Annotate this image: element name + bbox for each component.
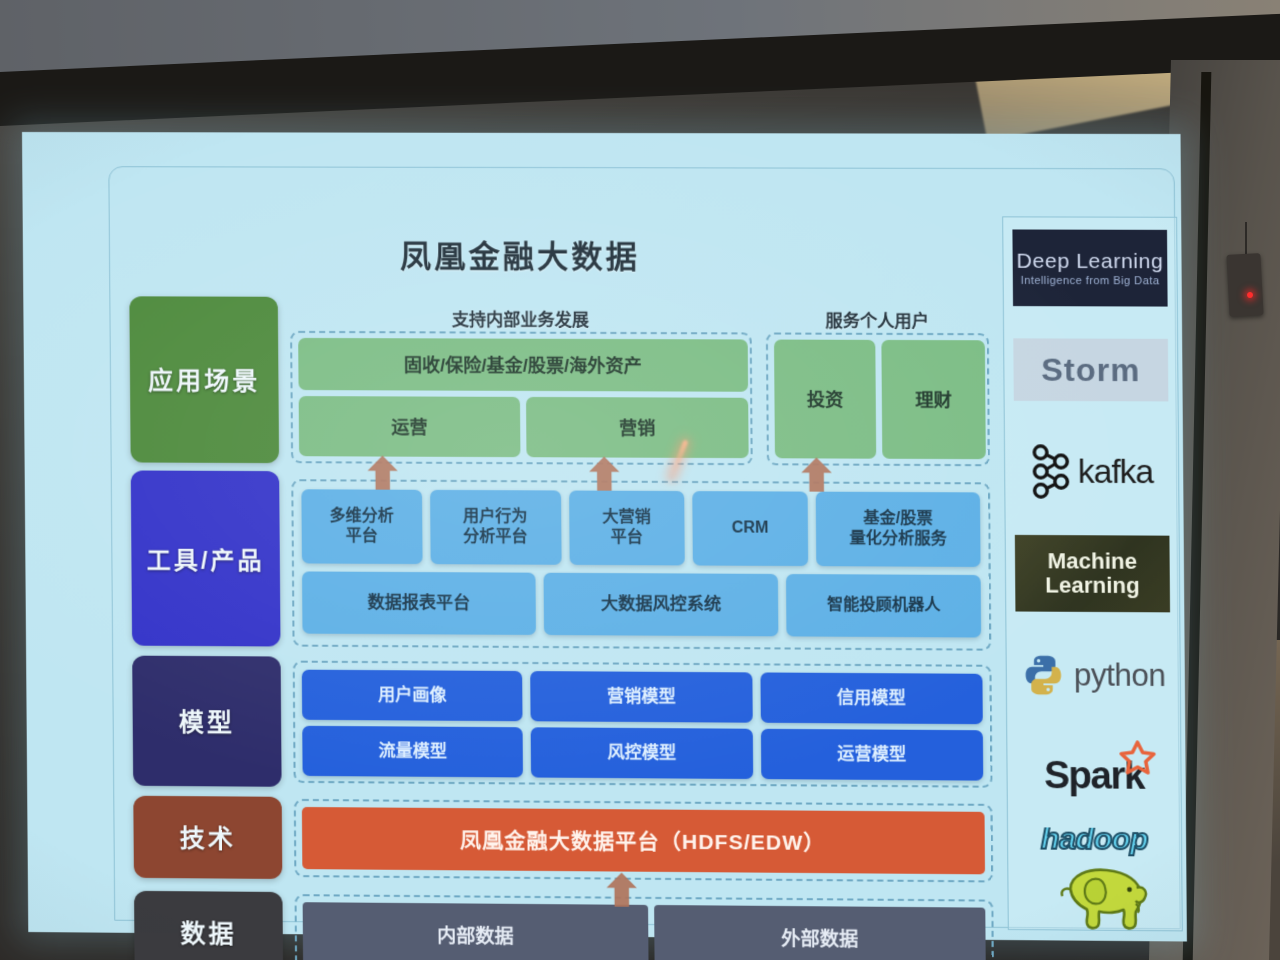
tech-cell-platform[interactable]: 凤凰金融大数据平台（HDFS/EDW） bbox=[302, 807, 985, 874]
tools-line-top: 多维分析平台 用户行为分析平台 大营销平台 CRM 基金/股票量化分析服务 bbox=[301, 489, 980, 567]
tool-cell-marketing-platform[interactable]: 大营销平台 bbox=[569, 491, 685, 566]
layer-row-technology: 技术 凤凰金融大数据平台（HDFS/EDW） bbox=[127, 796, 993, 885]
row-label-tools[interactable]: 工具/产品 bbox=[131, 470, 281, 646]
layer-row-application: 应用场景 支持内部业务发展 固收/保险/基金/股票/海外资产 运营 营销 服务个… bbox=[123, 296, 990, 466]
data-line: 内部数据 外部数据 bbox=[303, 902, 986, 960]
layer-row-tools: 工具/产品 多维分析平台 用户行为分析平台 大营销平台 CRM 基金/股票量化分… bbox=[125, 470, 992, 650]
app-cell-operations[interactable]: 运营 bbox=[299, 396, 521, 457]
slide-surface: 凤凰金融大数据 应用场景 支持内部业务发展 固收/保险/基金/股票/海外资产 运… bbox=[22, 132, 1187, 942]
tool-cell-robo-advisor[interactable]: 智能投顾机器人 bbox=[786, 574, 981, 638]
meeting-room-scene: 凤凰金融大数据 应用场景 支持内部业务发展 固收/保险/基金/股票/海外资产 运… bbox=[0, 0, 1280, 960]
machine-learning-line1: Machine bbox=[1047, 549, 1137, 573]
row-body-technology: 凤凰金融大数据平台（HDFS/EDW） bbox=[294, 799, 993, 883]
tool-cell-risk-control[interactable]: 大数据风控系统 bbox=[544, 573, 779, 637]
app-cell-assets[interactable]: 固收/保险/基金/股票/海外资产 bbox=[298, 338, 748, 392]
layer-row-data: 数据 内部数据 外部数据 bbox=[128, 891, 994, 960]
storm-wordmark: Storm bbox=[1013, 339, 1168, 402]
group-personal-users: 服务个人用户 投资 理财 bbox=[766, 332, 990, 466]
app-cell-investment[interactable]: 投资 bbox=[774, 340, 876, 459]
model-cell-marketing[interactable]: 营销模型 bbox=[531, 671, 753, 723]
row-body-models: 用户画像 营销模型 信用模型 流量模型 风控模型 运营模型 bbox=[293, 661, 993, 788]
logo-machine-learning: Machine Learning bbox=[1006, 522, 1180, 625]
logo-kafka: kafka bbox=[1005, 421, 1179, 523]
app-cell-marketing[interactable]: 营销 bbox=[526, 397, 749, 458]
sensor-led-indicator bbox=[1247, 292, 1253, 298]
hadoop-wordmark: hadoop bbox=[1041, 827, 1148, 857]
kafka-wordmark: kafka bbox=[1078, 453, 1153, 492]
group-caption-internal: 支持内部业务发展 bbox=[292, 305, 750, 332]
row-label-models[interactable]: 模型 bbox=[132, 656, 281, 787]
tools-line-bottom: 数据报表平台 大数据风控系统 智能投顾机器人 bbox=[302, 571, 981, 637]
logo-spark: Spark bbox=[1007, 726, 1181, 829]
model-cell-operations[interactable]: 运营模型 bbox=[761, 729, 984, 781]
tool-cell-quant-analysis[interactable]: 基金/股票量化分析服务 bbox=[816, 492, 981, 567]
tool-cell-reporting-platform[interactable]: 数据报表平台 bbox=[302, 571, 536, 634]
logo-storm: Storm bbox=[1004, 319, 1178, 421]
tech-logo-rail: Deep Learning Intelligence from Big Data… bbox=[1002, 216, 1183, 931]
wall-sensor-device bbox=[1226, 253, 1263, 317]
row-body-application: 支持内部业务发展 固收/保险/基金/股票/海外资产 运营 营销 服务个人用户 投… bbox=[290, 331, 990, 466]
data-cell-internal[interactable]: 内部数据 bbox=[303, 902, 649, 960]
model-cell-credit[interactable]: 信用模型 bbox=[760, 672, 983, 724]
row-body-tools: 多维分析平台 用户行为分析平台 大营销平台 CRM 基金/股票量化分析服务 数据… bbox=[291, 479, 991, 650]
models-line-bottom: 流量模型 风控模型 运营模型 bbox=[302, 726, 983, 781]
sensor-stem bbox=[1245, 222, 1247, 258]
logo-python: python bbox=[1006, 624, 1180, 727]
row-body-data: 内部数据 外部数据 bbox=[295, 894, 994, 960]
hadoop-elephant-icon bbox=[1040, 858, 1150, 930]
model-cell-risk[interactable]: 风控模型 bbox=[531, 727, 753, 779]
tool-cell-user-behavior[interactable]: 用户行为分析平台 bbox=[430, 490, 562, 565]
layer-row-models: 模型 用户画像 营销模型 信用模型 流量模型 风控模型 运营模型 bbox=[126, 656, 992, 792]
machine-learning-line2: Learning bbox=[1045, 573, 1140, 597]
data-cell-external[interactable]: 外部数据 bbox=[654, 905, 985, 960]
row-label-technology[interactable]: 技术 bbox=[133, 796, 282, 879]
deep-learning-subtitle: Intelligence from Big Data bbox=[1021, 275, 1160, 288]
kafka-nodes-icon bbox=[1030, 444, 1071, 499]
model-cell-user-profile[interactable]: 用户画像 bbox=[302, 670, 523, 722]
page-title: 凤凰金融大数据 bbox=[123, 230, 920, 277]
row-label-data[interactable]: 数据 bbox=[134, 891, 283, 960]
row-label-application[interactable]: 应用场景 bbox=[129, 296, 279, 463]
spark-star-icon bbox=[1117, 739, 1158, 780]
app-cell-wealth[interactable]: 理财 bbox=[881, 340, 985, 459]
logo-hadoop: hadoop bbox=[1008, 827, 1182, 930]
python-wordmark: python bbox=[1074, 657, 1166, 694]
deep-learning-title: Deep Learning bbox=[1016, 250, 1163, 275]
architecture-diagram: 凤凰金融大数据 应用场景 支持内部业务发展 固收/保险/基金/股票/海外资产 运… bbox=[122, 178, 993, 930]
python-snakes-icon bbox=[1021, 653, 1066, 698]
projection-screen: 凤凰金融大数据 应用场景 支持内部业务发展 固收/保险/基金/股票/海外资产 运… bbox=[22, 132, 1187, 942]
tool-cell-crm[interactable]: CRM bbox=[692, 491, 808, 566]
logo-deep-learning: Deep Learning Intelligence from Big Data bbox=[1003, 217, 1177, 319]
models-line-top: 用户画像 营销模型 信用模型 bbox=[302, 670, 983, 725]
group-caption-personal: 服务个人用户 bbox=[768, 306, 987, 332]
tool-cell-multidim-analysis[interactable]: 多维分析平台 bbox=[301, 489, 422, 564]
model-cell-traffic[interactable]: 流量模型 bbox=[302, 726, 523, 778]
